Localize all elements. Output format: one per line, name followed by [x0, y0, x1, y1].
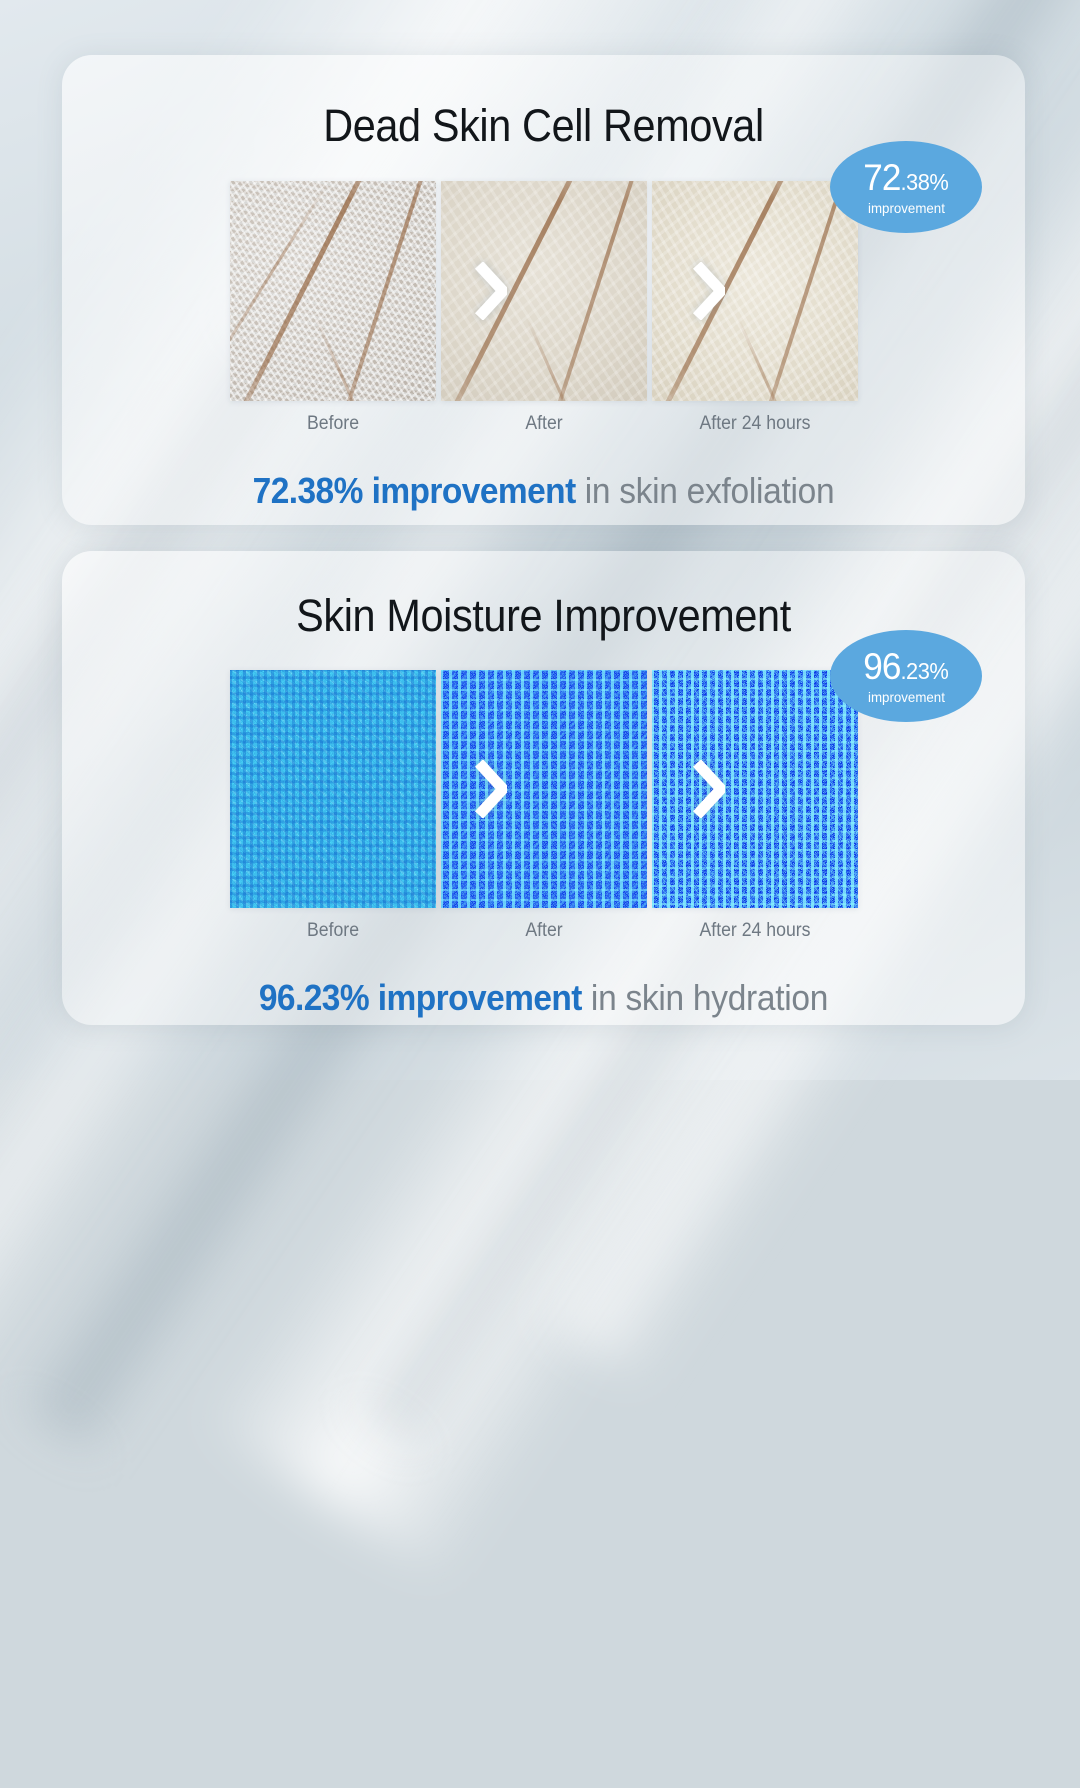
panel-title: Dead Skin Cell Removal: [101, 55, 987, 148]
caption-after: After: [448, 920, 640, 942]
panel-title: Skin Moisture Improvement: [101, 551, 987, 638]
image-captions: Before After After 24 hours: [62, 920, 1025, 942]
statement-highlight: 72.38% improvement: [253, 470, 576, 511]
before-after-image-strip: 96 .23% improvement: [62, 670, 1025, 908]
badge-label: improvement: [868, 201, 945, 215]
badge-decimal: .23%: [901, 660, 949, 683]
panel-dead-skin-cell-removal: Dead Skin Cell Removal 72 .38% improv: [62, 55, 1025, 525]
badge-label: improvement: [868, 690, 945, 704]
panel-statement: 96.23% improvement in skin hydration: [96, 977, 992, 1019]
improvement-badge: 96 .23% improvement: [830, 630, 982, 722]
before-after-image-strip: 72 .38% improvement: [62, 181, 1025, 401]
image-after: [441, 670, 647, 908]
panel-statement: 72.38% improvement in skin exfoliation: [96, 470, 992, 512]
panel-skin-moisture-improvement: Skin Moisture Improvement 96 .23% improv…: [62, 551, 1025, 1025]
image-captions: Before After After 24 hours: [62, 413, 1025, 435]
improvement-badge: 72 .38% improvement: [830, 141, 982, 233]
image-before: [230, 181, 436, 401]
statement-rest: in skin exfoliation: [576, 470, 835, 511]
badge-integer: 72: [863, 159, 900, 196]
image-after-24-hours: [652, 181, 858, 401]
statement-rest: in skin hydration: [582, 977, 828, 1018]
caption-after: After: [448, 413, 640, 435]
image-after-24-hours: [652, 670, 858, 908]
image-after: [441, 181, 647, 401]
caption-after-24-hours: After 24 hours: [659, 920, 851, 942]
caption-after-24-hours: After 24 hours: [659, 413, 851, 435]
caption-before: Before: [237, 920, 429, 942]
badge-integer: 96: [863, 648, 900, 685]
caption-before: Before: [237, 413, 429, 435]
badge-decimal: .38%: [901, 171, 949, 194]
statement-highlight: 96.23% improvement: [259, 977, 582, 1018]
image-before: [230, 670, 436, 908]
